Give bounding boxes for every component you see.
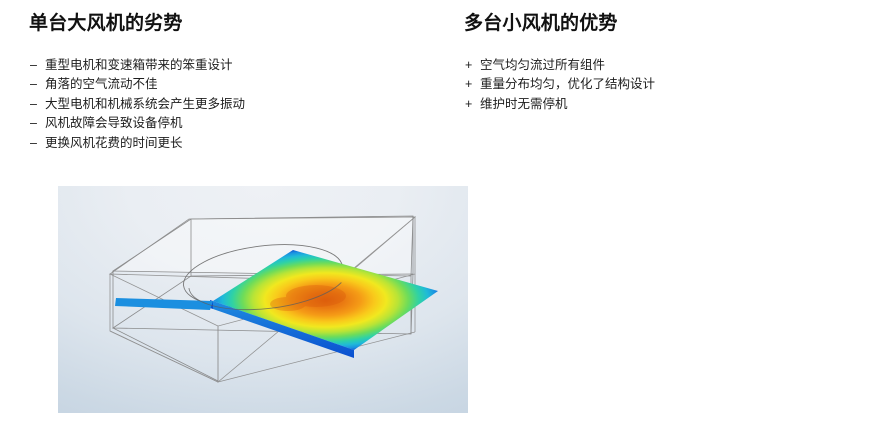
list-item-label: 重量分布均匀，优化了结构设计 xyxy=(480,75,655,94)
list-item: + 维护时无需停机 xyxy=(465,95,655,114)
list-item-label: 空气均匀流过所有组件 xyxy=(480,56,605,75)
list-item-label: 角落的空气流动不佳 xyxy=(45,75,158,94)
column-advantages: 多台小风机的优势 + 空气均匀流过所有组件 + 重量分布均匀，优化了结构设计 +… xyxy=(464,0,894,438)
list-item: + 空气均匀流过所有组件 xyxy=(465,56,655,75)
page-title-advantages: 多台小风机的优势 xyxy=(464,12,618,36)
list-item: + 重量分布均匀，优化了结构设计 xyxy=(465,75,655,94)
column-disadvantages: 单台大风机的劣势 – 重型电机和变速箱带来的笨重设计 – 角落的空气流动不佳 –… xyxy=(29,0,459,438)
figure-single-large-fan-cfd xyxy=(58,186,468,413)
list-item: – 大型电机和机械系统会产生更多振动 xyxy=(30,95,245,114)
list-item-label: 风机故障会导致设备停机 xyxy=(45,114,183,133)
list-item-label: 大型电机和机械系统会产生更多振动 xyxy=(45,95,245,114)
bullet-marker-icon: + xyxy=(465,75,480,94)
list-item-label: 维护时无需停机 xyxy=(480,95,568,114)
list-item: – 风机故障会导致设备停机 xyxy=(30,114,245,133)
bullet-list-advantages: + 空气均匀流过所有组件 + 重量分布均匀，优化了结构设计 + 维护时无需停机 xyxy=(465,56,655,114)
bullet-marker-icon: – xyxy=(30,95,45,114)
bullet-marker-icon: + xyxy=(465,95,480,114)
bullet-marker-icon: – xyxy=(30,75,45,94)
list-item: – 角落的空气流动不佳 xyxy=(30,75,245,94)
page-title-disadvantages: 单台大风机的劣势 xyxy=(29,12,183,36)
list-item: – 更换风机花费的时间更长 xyxy=(30,134,245,153)
bullet-marker-icon: – xyxy=(30,114,45,133)
bullet-marker-icon: – xyxy=(30,56,45,75)
bullet-list-disadvantages: – 重型电机和变速箱带来的笨重设计 – 角落的空气流动不佳 – 大型电机和机械系… xyxy=(30,56,245,153)
list-item-label: 更换风机花费的时间更长 xyxy=(45,134,183,153)
list-item: – 重型电机和变速箱带来的笨重设计 xyxy=(30,56,245,75)
bullet-marker-icon: – xyxy=(30,134,45,153)
bullet-marker-icon: + xyxy=(465,56,480,75)
list-item-label: 重型电机和变速箱带来的笨重设计 xyxy=(45,56,233,75)
